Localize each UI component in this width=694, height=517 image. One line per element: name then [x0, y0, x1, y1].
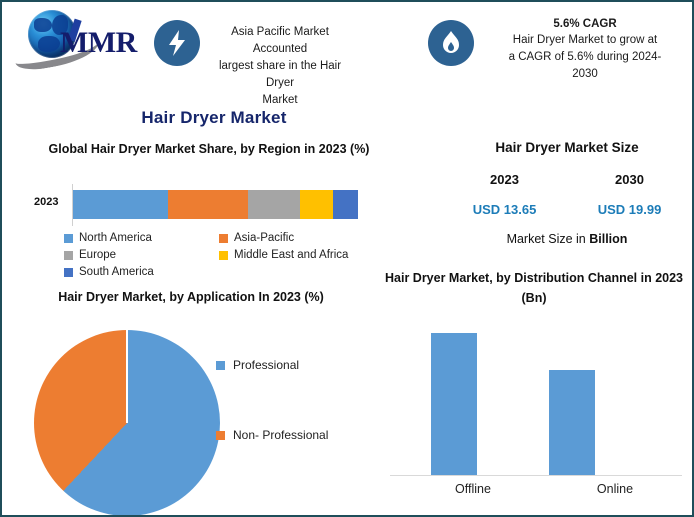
market-size-year-base: 2023: [442, 172, 567, 187]
region-stacked-bar: [73, 190, 358, 219]
region-legend-item: Asia-Pacific: [219, 232, 374, 244]
region-chart-plot: 2023: [24, 184, 364, 226]
brand-logo: ❚ MMR: [14, 8, 149, 74]
application-legend-item: Professional: [216, 358, 366, 372]
region-segment: [300, 190, 334, 219]
market-size-unit-prefix: Market Size in: [507, 232, 590, 246]
lightning-bolt-icon: [154, 20, 200, 66]
distribution-channel-chart: Hair Dryer Market, by Distribution Chann…: [376, 268, 692, 514]
region-segment: [248, 190, 300, 219]
region-legend: North AmericaAsia-PacificEuropeMiddle Ea…: [64, 232, 374, 283]
infographic-canvas: ❚ MMR Asia Pacific Market Accounted larg…: [0, 0, 694, 517]
application-share-chart: Hair Dryer Market, by Application In 202…: [16, 288, 366, 514]
flame-icon: [428, 20, 474, 66]
legend-swatch: [64, 234, 73, 243]
application-legend-item: Non- Professional: [216, 428, 366, 442]
legend-swatch: [64, 251, 73, 260]
legend-label: Professional: [233, 358, 299, 372]
market-size-value-base: USD 13.65: [442, 202, 567, 217]
kpi-region-line1: Asia Pacific Market Accounted: [206, 24, 354, 58]
legend-label: Non- Professional: [233, 428, 328, 442]
region-legend-item: North America: [64, 232, 219, 244]
region-legend-item: Europe: [64, 249, 219, 261]
market-size-years: 2023 2030: [442, 172, 692, 187]
market-size-title: Hair Dryer Market Size: [442, 140, 692, 155]
distribution-label-online: Online: [536, 482, 682, 496]
pie-slice-divider: [126, 330, 128, 423]
application-legend: ProfessionalNon- Professional: [216, 358, 366, 442]
legend-swatch: [219, 234, 228, 243]
kpi-region-text: Asia Pacific Market Accounted largest sh…: [206, 24, 354, 109]
distribution-plot-area: [390, 318, 682, 476]
legend-label: North America: [79, 232, 152, 244]
kpi-cagr-text: 5.6% CAGR Hair Dryer Market to grow at a…: [484, 16, 686, 83]
kpi-cagr-line3: 2030: [484, 66, 686, 83]
application-chart-title: Hair Dryer Market, by Application In 202…: [26, 288, 356, 307]
legend-swatch: [216, 431, 225, 440]
legend-label: Asia-Pacific: [234, 232, 294, 244]
kpi-cagr-line2: a CAGR of 5.6% during 2024-: [484, 49, 686, 66]
distribution-label-offline: Offline: [390, 482, 536, 496]
legend-swatch: [219, 251, 228, 260]
region-share-chart: Global Hair Dryer Market Share, by Regio…: [24, 140, 374, 280]
application-pie-plot: [34, 330, 220, 516]
region-category-label: 2023: [34, 196, 58, 208]
market-size-value-forecast: USD 19.99: [567, 202, 692, 217]
distribution-chart-title: Hair Dryer Market, by Distribution Chann…: [384, 268, 684, 308]
region-segment: [168, 190, 248, 219]
distribution-bar-offline: [431, 333, 477, 475]
distribution-x-labels: Offline Online: [390, 482, 682, 496]
region-chart-title: Global Hair Dryer Market Share, by Regio…: [44, 140, 374, 159]
market-size-unit-value: Billion: [589, 232, 627, 246]
header-band: ❚ MMR Asia Pacific Market Accounted larg…: [2, 2, 692, 88]
kpi-region-line3: Market: [206, 92, 354, 109]
legend-label: Middle East and Africa: [234, 249, 348, 261]
legend-swatch: [216, 361, 225, 370]
kpi-cagr-line1: Hair Dryer Market to grow at: [484, 32, 686, 49]
region-segment: [333, 190, 358, 219]
page-title: Hair Dryer Market: [2, 108, 426, 128]
region-segment: [73, 190, 168, 219]
market-size-year-forecast: 2030: [567, 172, 692, 187]
kpi-cagr-highlight: 5.6% CAGR Hair Dryer Market to grow at a…: [428, 10, 686, 90]
market-size-panel: Hair Dryer Market Size 2023 2030 USD 13.…: [442, 140, 692, 260]
legend-label: Europe: [79, 249, 116, 261]
distribution-baseline: [390, 475, 682, 476]
market-size-unit-note: Market Size in Billion: [442, 232, 692, 246]
market-size-values: USD 13.65 USD 19.99: [442, 202, 692, 217]
region-legend-item: South America: [64, 266, 219, 278]
distribution-bar-online: [549, 370, 595, 475]
kpi-region-highlight: Asia Pacific Market Accounted largest sh…: [154, 10, 354, 80]
region-legend-item: Middle East and Africa: [219, 249, 374, 261]
legend-label: South America: [79, 266, 154, 278]
kpi-region-line2: largest share in the Hair Dryer: [206, 58, 354, 92]
kpi-cagr-headline: 5.6% CAGR: [484, 16, 686, 32]
logo-wordmark: MMR: [60, 26, 137, 60]
legend-swatch: [64, 268, 73, 277]
